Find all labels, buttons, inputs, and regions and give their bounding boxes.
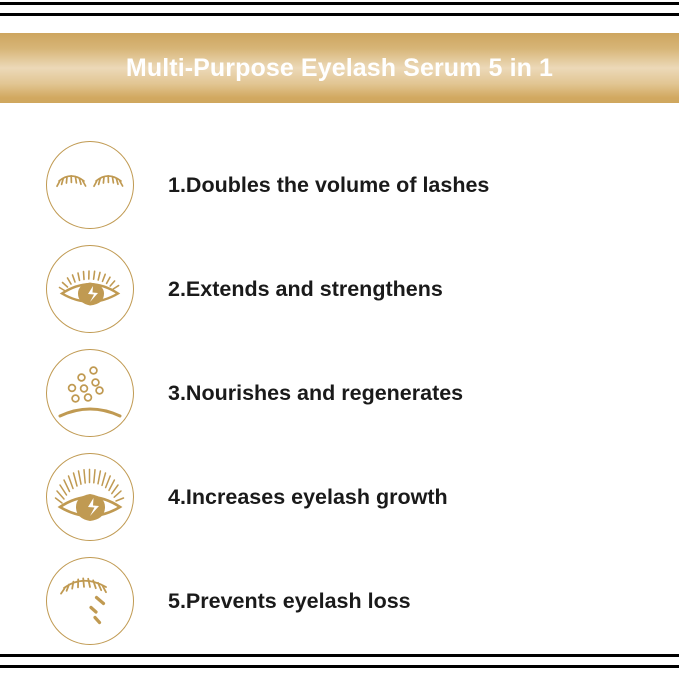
feature-icon-badge bbox=[46, 557, 134, 645]
feature-label: 4.Increases eyelash growth bbox=[168, 485, 448, 510]
feature-icon-badge bbox=[46, 453, 134, 541]
list-item: 5.Prevents eyelash loss bbox=[0, 549, 679, 653]
open-eye-short-lashes-icon bbox=[57, 267, 123, 311]
list-item: 2.Extends and strengthens bbox=[0, 237, 679, 341]
falling-lashes-icon bbox=[58, 572, 122, 630]
list-item: 1.Doubles the volume of lashes bbox=[0, 133, 679, 237]
list-item: 4.Increases eyelash growth bbox=[0, 445, 679, 549]
nourishing-droplets-icon bbox=[57, 364, 123, 422]
top-rule-outer bbox=[0, 2, 679, 5]
feature-label: 5.Prevents eyelash loss bbox=[168, 589, 411, 614]
feature-icon-badge bbox=[46, 141, 134, 229]
page-title: Multi-Purpose Eyelash Serum 5 in 1 bbox=[126, 54, 553, 83]
list-item: 3.Nourishes and regenerates bbox=[0, 341, 679, 445]
feature-label: 1.Doubles the volume of lashes bbox=[168, 173, 489, 198]
feature-icon-badge bbox=[46, 349, 134, 437]
top-rule-inner bbox=[0, 13, 679, 16]
feature-label: 2.Extends and strengthens bbox=[168, 277, 443, 302]
bottom-rule-outer bbox=[0, 654, 679, 657]
product-feature-card: Multi-Purpose Eyelash Serum 5 in 1 bbox=[0, 0, 679, 679]
feature-list: 1.Doubles the volume of lashes bbox=[0, 133, 679, 653]
title-banner: Multi-Purpose Eyelash Serum 5 in 1 bbox=[0, 33, 679, 103]
bottom-rule-inner bbox=[0, 665, 679, 668]
closed-eyes-pair-icon bbox=[55, 168, 125, 202]
open-eye-long-lashes-icon bbox=[53, 467, 127, 527]
feature-label: 3.Nourishes and regenerates bbox=[168, 381, 463, 406]
feature-icon-badge bbox=[46, 245, 134, 333]
